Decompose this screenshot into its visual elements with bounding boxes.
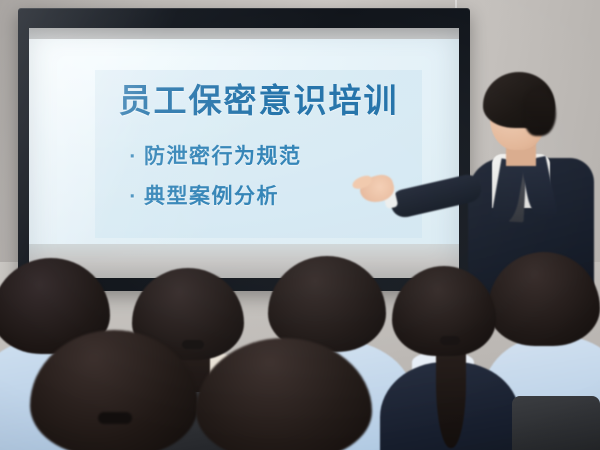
bullet-dot-icon: · <box>129 189 137 206</box>
slide-bullet-text: 典型案例分析 <box>144 177 279 217</box>
attendee-hair <box>488 252 600 346</box>
attendee-front-center <box>196 338 374 450</box>
attendee-front-left <box>30 330 200 450</box>
presenter-hair-back <box>524 88 556 136</box>
bullet-dot-icon: · <box>129 149 137 166</box>
slide-title: 员工保密意识培训 <box>95 80 422 121</box>
hair-tie <box>98 412 132 424</box>
attendee-hair <box>30 330 198 450</box>
attendee-right-navy <box>392 266 502 450</box>
slide-content-panel: 员工保密意识培训 · 防泄密行为规范 · 典型案例分析 <box>95 70 422 238</box>
wall-display[interactable]: 员工保密意识培训 · 防泄密行为规范 · 典型案例分析 <box>18 8 470 291</box>
attendee-hair <box>196 338 372 450</box>
slide-bullet-text: 防泄密行为规范 <box>144 137 302 177</box>
office-chair-right <box>512 396 600 450</box>
display-screen[interactable]: 员工保密意识培训 · 防泄密行为规范 · 典型案例分析 <box>29 28 459 278</box>
screen-top-band <box>29 28 459 39</box>
slide-bullet-item: · 防泄密行为规范 <box>129 137 422 177</box>
hair-tie <box>440 336 460 345</box>
training-room-photo: 员工保密意识培训 · 防泄密行为规范 · 典型案例分析 <box>0 0 600 450</box>
